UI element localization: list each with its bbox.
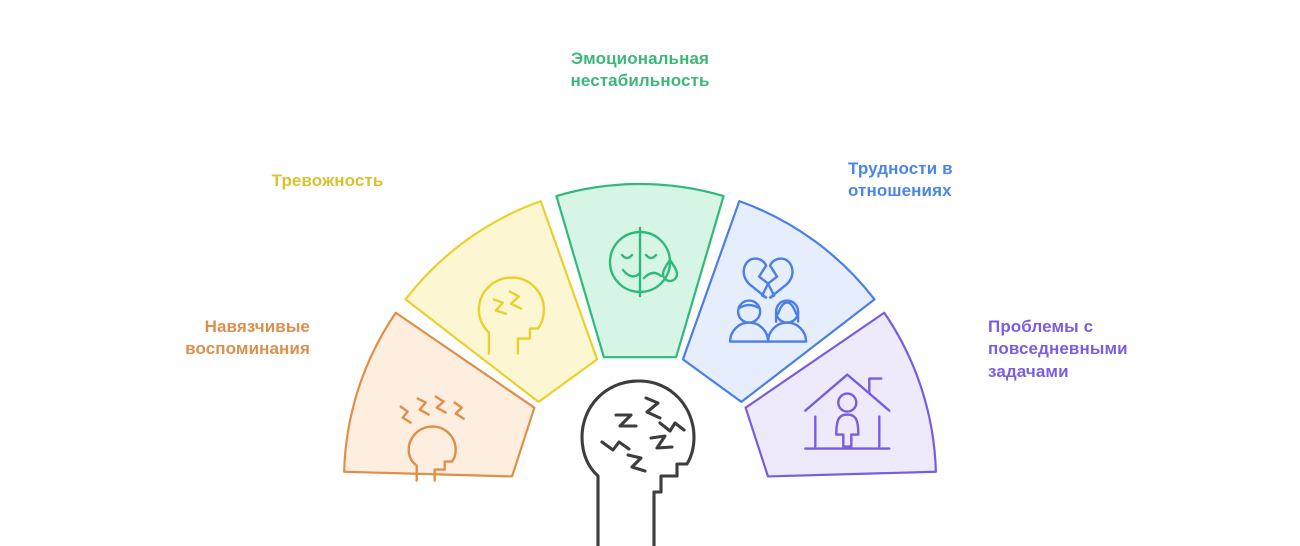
segment-label-anxiety: Тревожность [230,170,425,192]
segment-label-relations: Трудности в отношениях [848,158,1048,203]
segment-label-emotional: Эмоциональная нестабильность [520,48,760,93]
segment-label-daily: Проблемы с повседневными задачами [988,316,1208,383]
segment-label-intrusive: Навязчивые воспоминания [100,316,310,361]
stressed-head-icon [582,381,694,546]
infographic-canvas: Навязчивые воспоминания Тревожность Эмоц… [0,0,1300,546]
